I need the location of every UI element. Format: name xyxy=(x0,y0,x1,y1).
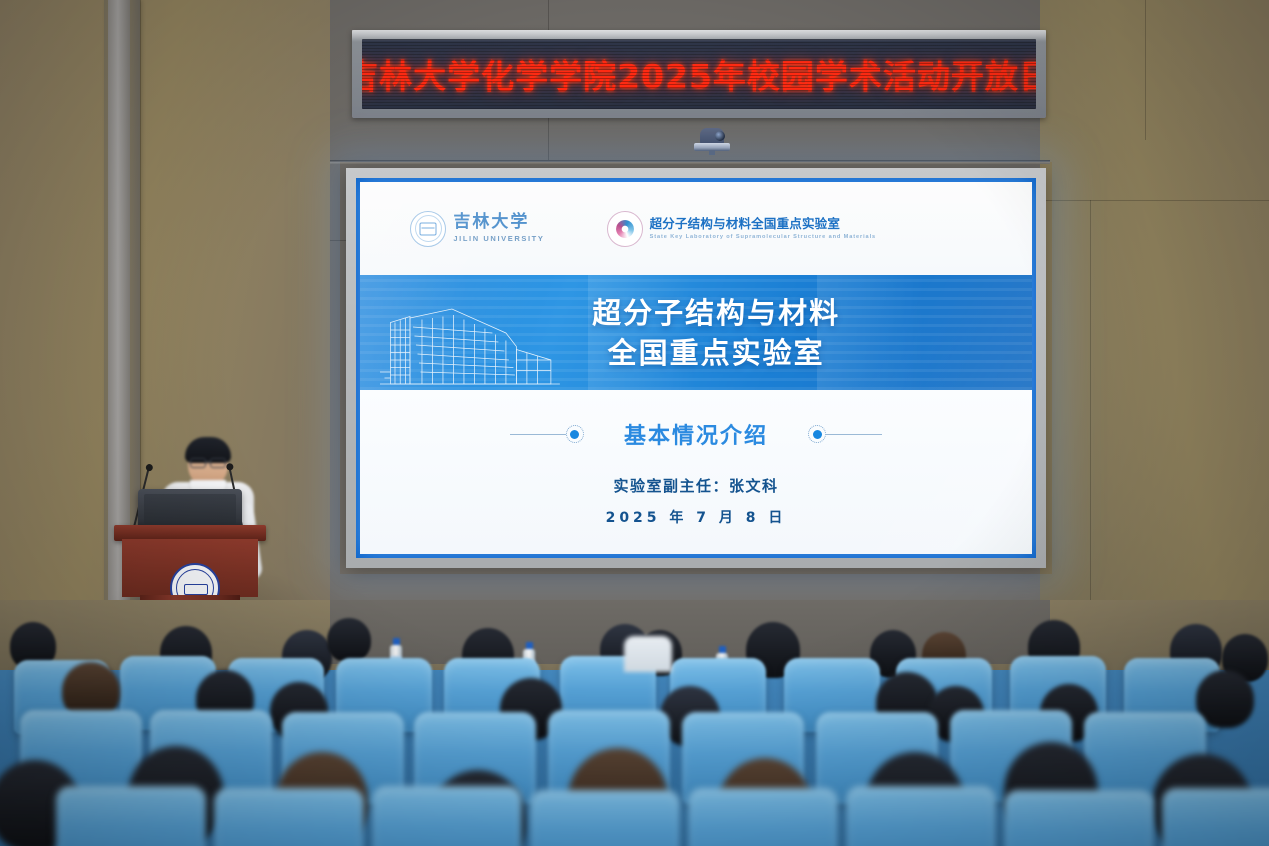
decoration-left xyxy=(510,425,584,443)
camera-lens xyxy=(715,131,725,141)
seal-inner-mark xyxy=(420,222,437,235)
speaker-glasses-icon xyxy=(190,458,226,466)
slide-title-line-2: 全国重点实验室 xyxy=(400,333,1032,373)
slide-lower-section: 基本情况介绍 实验室副主任：张文科 2025 年 7 月 8 日 xyxy=(360,390,1032,554)
university-logo: 吉林大学 JILIN UNIVERSITY xyxy=(410,211,544,247)
decoration-right xyxy=(808,425,882,443)
lab-name-en: State Key Laboratory of Supramolecular S… xyxy=(650,234,876,240)
projection-screen-bezel: 吉林大学 JILIN UNIVERSITY 超分子结构与材料全国重点实验室 St… xyxy=(356,178,1036,558)
right-wall-panel xyxy=(1040,0,1269,700)
auditorium-chair xyxy=(846,786,996,846)
university-name-en: JILIN UNIVERSITY xyxy=(453,234,544,243)
slide-presenter: 实验室副主任：张文科 xyxy=(360,475,1032,496)
lab-logo: 超分子结构与材料全国重点实验室 State Key Laboratory of … xyxy=(607,211,876,247)
deco-dot-icon xyxy=(808,425,826,443)
auditorium-chair xyxy=(56,786,206,846)
slide-main-title: 超分子结构与材料 全国重点实验室 xyxy=(360,293,1032,373)
deco-line xyxy=(826,434,882,435)
auditorium-chair xyxy=(1162,788,1269,846)
auditorium-chair xyxy=(372,786,522,846)
projection-screen-frame: 吉林大学 JILIN UNIVERSITY 超分子结构与材料全国重点实验室 St… xyxy=(346,168,1046,568)
wall-seam xyxy=(1040,200,1269,201)
podium-front-panel xyxy=(122,539,258,597)
slide-logo-bar: 吉林大学 JILIN UNIVERSITY 超分子结构与材料全国重点实验室 St… xyxy=(360,182,1032,275)
deco-line xyxy=(510,434,566,435)
audience-head xyxy=(327,618,371,662)
led-frame-gloss xyxy=(352,30,1046,42)
auditorium-chair xyxy=(688,788,838,846)
slide-subtitle: 基本情况介绍 xyxy=(624,418,768,450)
slide-title-line-1: 超分子结构与材料 xyxy=(400,293,1032,333)
lecture-hall-photo: 吉林大学化学学院2025年校园学术活动开放日 xyxy=(0,0,1269,846)
audience-shirt xyxy=(624,636,672,672)
deco-dot-icon xyxy=(566,425,584,443)
wall-seam xyxy=(1145,0,1146,140)
lab-name-cn: 超分子结构与材料全国重点实验室 xyxy=(650,217,876,231)
camera-mount-arm xyxy=(709,150,715,155)
presentation-slide: 吉林大学 JILIN UNIVERSITY 超分子结构与材料全国重点实验室 St… xyxy=(360,182,1032,554)
lab-seal-icon xyxy=(607,211,643,247)
slide-date: 2025 年 7 月 8 日 xyxy=(360,507,1032,527)
jilin-university-seal-icon xyxy=(410,211,446,247)
auditorium-chair xyxy=(1004,790,1154,846)
led-banner-text: 吉林大学化学学院2025年校园学术活动开放日 xyxy=(362,50,1036,98)
led-banner: 吉林大学化学学院2025年校园学术活动开放日 xyxy=(352,30,1046,118)
auditorium-chair xyxy=(214,788,364,846)
slide-subtitle-row: 基本情况介绍 xyxy=(360,418,1032,450)
audience-area xyxy=(0,600,1269,846)
slide-title-band: 超分子结构与材料 全国重点实验室 xyxy=(360,275,1032,390)
university-name-cn: 吉林大学 xyxy=(453,214,544,232)
wall-ledge xyxy=(330,160,1050,164)
led-banner-screen: 吉林大学化学学院2025年校园学术活动开放日 xyxy=(362,39,1036,109)
lab-swirl-mark xyxy=(616,220,634,238)
ptz-camera-icon xyxy=(692,128,732,154)
auditorium-chair xyxy=(530,790,680,846)
